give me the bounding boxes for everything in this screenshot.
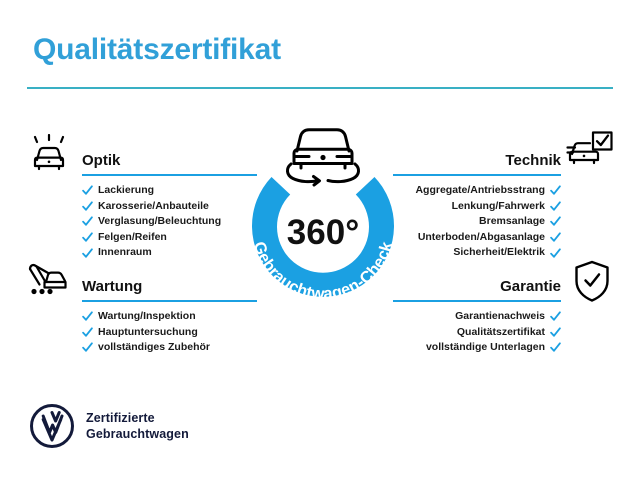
section-technik: Technik Aggregate/Antriebsstrang Lenkung… [393,146,561,277]
list-item: Garantienachweis [393,309,561,325]
check-icon [82,311,93,322]
check-icon [550,342,561,353]
list-item-label: Lackierung [98,183,154,199]
section-garantie-rule [393,300,561,302]
list-item: Unterboden/Abgasanlage [393,230,561,246]
list-item-label: Aggregate/Antriebsstrang [415,183,545,199]
check-icon [82,216,93,227]
car-rotate-icon [287,130,358,185]
car-wrench-icon [24,260,70,300]
list-item-label: Bremsanlage [479,214,545,230]
check-icon [82,342,93,353]
list-item-label: Sicherheit/Elektrik [453,245,545,261]
section-garantie-list: Garantienachweis Qualitätszertifikat vol… [393,309,561,356]
check-icon [550,327,561,338]
check-icon [550,216,561,227]
badge-center-label: 360° [287,213,359,252]
shield-check-icon [572,259,612,303]
check-icon [550,232,561,243]
list-item-label: vollständige Unterlagen [426,340,545,356]
vw-footer: Zertifizierte Gebrauchtwagen [30,404,189,448]
list-item: Bremsanlage [393,214,561,230]
section-garantie-title: Garantie [500,278,561,295]
check-icon [550,311,561,322]
list-item-label: vollständiges Zubehör [98,340,210,356]
section-technik-header: Technik [393,146,561,176]
section-wartung-title: Wartung [82,278,142,295]
car-checkbox-icon [566,130,614,172]
section-garantie: Garantie Garantienachweis Qualitätszerti… [393,272,561,372]
list-item: Aggregate/Antriebsstrang [393,183,561,199]
list-item-label: Hauptuntersuchung [98,325,198,341]
check-icon [82,327,93,338]
list-item-label: Karosserie/Anbauteile [98,199,209,215]
list-item: vollständige Unterlagen [393,340,561,356]
badge-360-gebrauchtwagen-check: Gebrauchtwagen-Check 360° [228,116,418,321]
check-icon [82,201,93,212]
check-icon [82,185,93,196]
vw-logo [30,404,74,448]
vw-footer-text: Zertifizierte Gebrauchtwagen [86,410,189,442]
list-item: Hauptuntersuchung [82,325,257,341]
vw-footer-line1: Zertifizierte [86,410,189,426]
section-technik-rule [393,174,561,176]
list-item-label: Unterboden/Abgasanlage [418,230,545,246]
section-garantie-header: Garantie [393,272,561,302]
section-technik-list: Aggregate/Antriebsstrang Lenkung/Fahrwer… [393,183,561,261]
section-technik-title: Technik [505,152,561,169]
check-icon [550,201,561,212]
list-item: Qualitätszertifikat [393,325,561,341]
page-title: Qualitätszertifikat [33,33,281,67]
certificate-page: Qualitätszertifikat Optik Lackierung Kar… [0,0,640,480]
check-icon [82,248,93,259]
list-item: Lenkung/Fahrwerk [393,199,561,215]
list-item-label: Qualitätszertifikat [457,325,545,341]
list-item-label: Wartung/Inspektion [98,309,196,325]
vw-footer-line2: Gebrauchtwagen [86,426,189,442]
list-item: Sicherheit/Elektrik [393,245,561,261]
section-optik-title: Optik [82,152,120,169]
list-item-label: Innenraum [98,245,152,261]
check-icon [550,248,561,259]
title-divider [27,87,613,89]
check-icon [550,185,561,196]
car-shine-icon [26,134,72,174]
list-item-label: Felgen/Reifen [98,230,167,246]
list-item: vollständiges Zubehör [82,340,257,356]
list-item-label: Garantienachweis [455,309,545,325]
list-item-label: Verglasung/Beleuchtung [98,214,221,230]
list-item-label: Lenkung/Fahrwerk [452,199,545,215]
check-icon [82,232,93,243]
